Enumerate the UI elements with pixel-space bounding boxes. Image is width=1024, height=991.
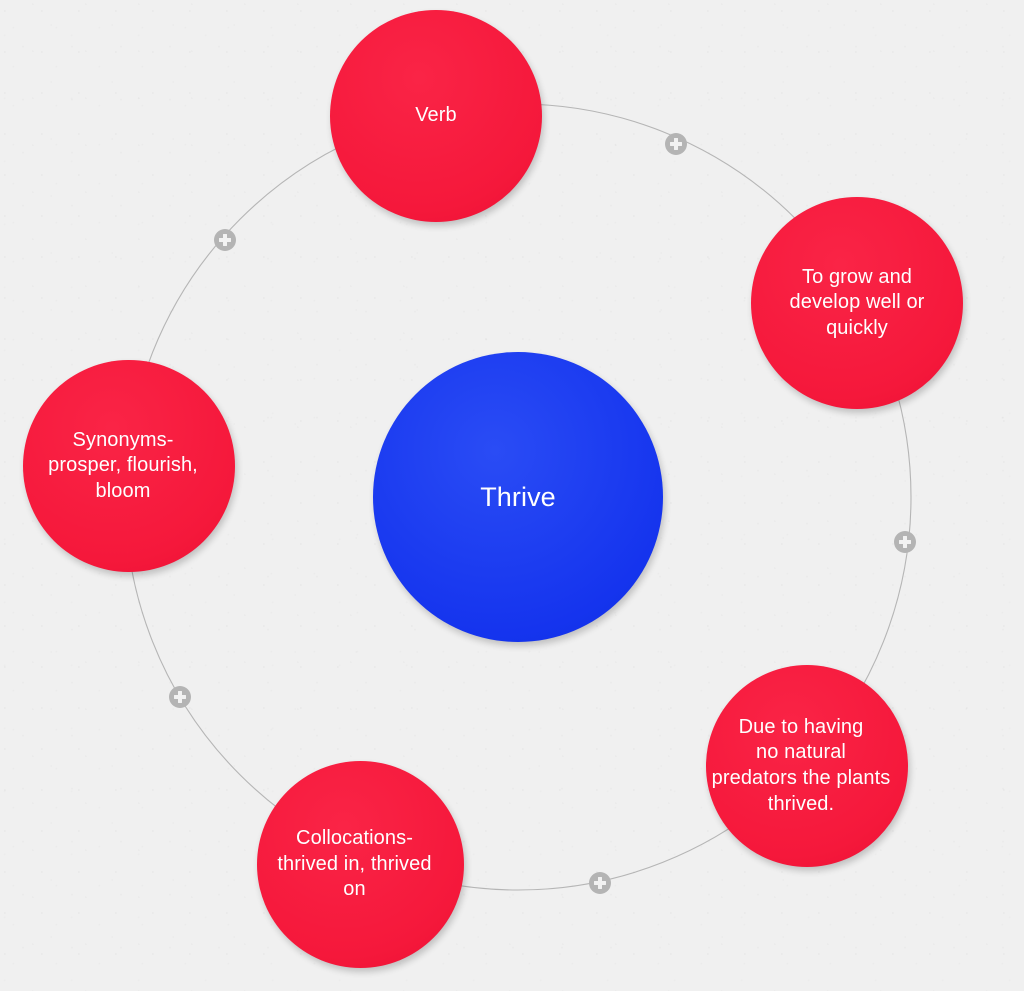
- node-verb[interactable]: Verb: [330, 10, 542, 222]
- node-center-label: Thrive: [373, 480, 663, 515]
- add-node-button-bottom[interactable]: [589, 872, 611, 894]
- node-verb-label: Verb: [330, 103, 542, 129]
- node-example-label: Due to having no natural predators the p…: [694, 715, 908, 817]
- node-collocations-label: Collocations- thrived in, thrived on: [245, 826, 464, 903]
- mindmap-canvas: Verb To grow and develop well or quickly…: [0, 0, 1024, 991]
- node-example[interactable]: Due to having no natural predators the p…: [706, 665, 908, 867]
- node-definition-label: To grow and develop well or quickly: [751, 265, 963, 342]
- node-collocations[interactable]: Collocations- thrived in, thrived on: [257, 761, 464, 968]
- add-node-button-top-left[interactable]: [214, 229, 236, 251]
- add-node-button-bottom-left[interactable]: [169, 686, 191, 708]
- add-node-button-right[interactable]: [894, 531, 916, 553]
- add-node-button-top-right[interactable]: [665, 133, 687, 155]
- node-synonyms-label: Synonyms- prosper, flourish, bloom: [12, 428, 235, 505]
- node-definition[interactable]: To grow and develop well or quickly: [751, 197, 963, 409]
- node-center-thrive[interactable]: Thrive: [373, 352, 663, 642]
- node-synonyms[interactable]: Synonyms- prosper, flourish, bloom: [23, 360, 235, 572]
